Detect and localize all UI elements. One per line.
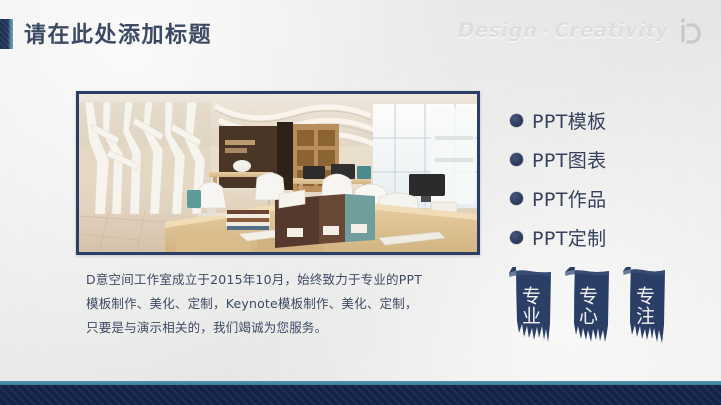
badge-label: 专注 xyxy=(632,278,656,334)
id-logo-icon xyxy=(675,14,709,48)
accent-stripe-texture xyxy=(0,19,13,49)
page-title: 请在此处添加标题 xyxy=(24,17,212,49)
watermark-word-design: Design xyxy=(458,18,538,42)
badge-label: 专心 xyxy=(575,278,599,334)
brush-badge: 专业 xyxy=(504,267,556,347)
circle-bullet-icon xyxy=(510,192,523,205)
footer-band xyxy=(0,385,721,405)
body-paragraph: D意空间工作室成立于2015年10月，始终致力于专业的PPT 模板制作、美化、定… xyxy=(86,268,478,340)
watermark-word-creativity: Creativity xyxy=(554,18,669,42)
circle-bullet-icon xyxy=(510,153,523,166)
list-item[interactable]: PPT定制 xyxy=(510,218,715,257)
body-line: 只要是与演示相关的，我们竭诚为您服务。 xyxy=(86,316,478,340)
brush-badge: 专心 xyxy=(561,267,613,347)
bullet-label: PPT作品 xyxy=(532,185,607,212)
body-line: 模板制作、美化、定制，Keynote模板制作、美化、定制， xyxy=(86,292,478,316)
slide-canvas: 请在此处添加标题 Design · Creativity xyxy=(0,0,721,405)
circle-bullet-icon xyxy=(510,114,523,127)
list-item[interactable]: PPT模板 xyxy=(510,101,715,140)
bullet-label: PPT图表 xyxy=(532,146,607,173)
list-item[interactable]: PPT图表 xyxy=(510,140,715,179)
brush-badge: 专注 xyxy=(618,267,670,347)
watermark-text: Design · Creativity xyxy=(458,18,669,42)
bullet-label: PPT模板 xyxy=(532,107,607,134)
feature-bullet-list: PPT模板 PPT图表 PPT作品 PPT定制 xyxy=(510,101,715,257)
brush-badge-group: 专业 专心 专注 xyxy=(504,267,670,347)
bullet-label: PPT定制 xyxy=(532,224,607,251)
watermark-separator: · xyxy=(543,22,550,42)
badge-label: 专业 xyxy=(518,278,542,334)
list-item[interactable]: PPT作品 xyxy=(510,179,715,218)
body-line: D意空间工作室成立于2015年10月，始终致力于专业的PPT xyxy=(86,268,478,292)
office-photo xyxy=(76,91,480,255)
footer-stripe-texture xyxy=(0,385,721,405)
circle-bullet-icon xyxy=(510,231,523,244)
title-accent-bar xyxy=(0,19,13,49)
